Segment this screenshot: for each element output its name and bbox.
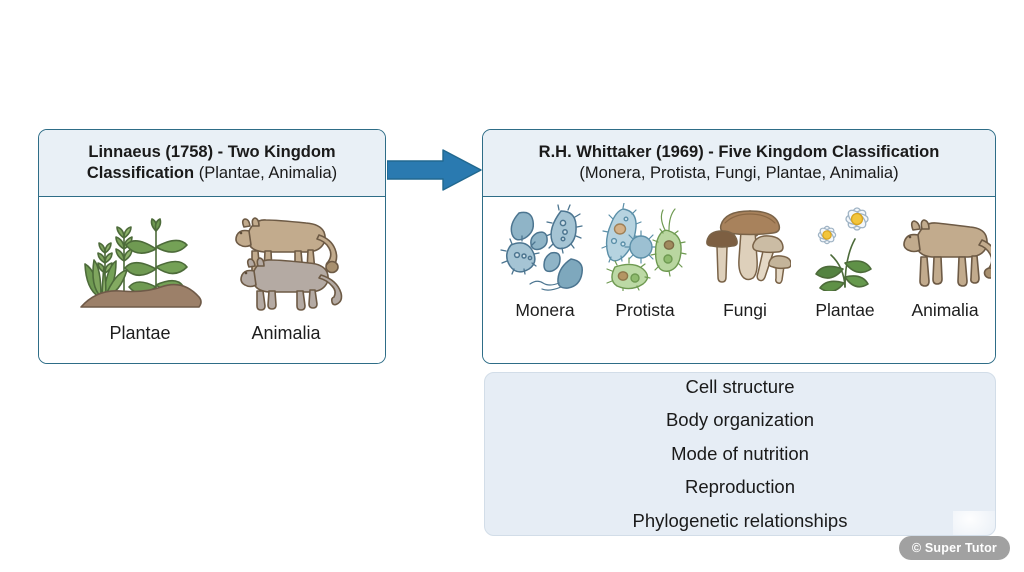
linnaeus-header-line-2: Classification (Plantae, Animalia) [87,163,337,184]
kingdom-plantae-linnaeus: Plantae [77,207,203,342]
linnaeus-kingdom-row: Plantae [39,197,385,342]
kingdom-plantae-whittaker: Plantae [797,203,893,320]
whittaker-card-body: Monera [483,197,995,363]
kingdom-label-plantae-whittaker: Plantae [815,302,874,320]
right-arrow-icon [387,148,483,192]
criteria-item: Cell structure [485,372,995,404]
kingdom-animalia-whittaker: Animalia [897,203,993,320]
kingdom-fungi: Fungi [697,203,793,320]
whittaker-card-header: R.H. Whittaker (1969) - Five Kingdom Cla… [483,130,995,197]
kingdom-label-fungi: Fungi [723,302,767,320]
kingdom-animalia-linnaeus: Animalia [225,207,347,342]
linnaeus-card-body: Plantae [39,197,385,363]
bacteria-icon [499,203,591,296]
kingdom-protista: Protista [597,203,693,320]
classification-criteria-panel: Cell structure Body organization Mode of… [484,372,996,536]
whittaker-kingdom-row: Monera [483,197,996,320]
linnaeus-header-bold-2: Classification [87,164,194,182]
two-felines-icon [225,207,347,316]
kingdom-label-plantae-linnaeus: Plantae [109,324,170,342]
criteria-item: Phylogenetic relationships [485,504,995,536]
whittaker-header-bold: R.H. Whittaker (1969) - Five Kingdom Cla… [539,143,940,161]
daisy-flowers-icon [799,203,891,296]
whittaker-five-kingdom-card: R.H. Whittaker (1969) - Five Kingdom Cla… [482,129,996,364]
linnaeus-header-bold-1: Linnaeus (1758) - Two Kingdom [88,143,335,161]
whittaker-header-normal: (Monera, Protista, Fungi, Plantae, Anima… [579,164,898,182]
mushrooms-icon [699,203,791,296]
transition-arrow [387,148,483,192]
kingdom-label-animalia-whittaker: Animalia [911,302,978,320]
linnaeus-header-normal-2: (Plantae, Animalia) [194,164,337,182]
linnaeus-header-line-1: Linnaeus (1758) - Two Kingdom [88,142,335,163]
kingdom-monera: Monera [497,203,593,320]
criteria-item: Body organization [485,404,995,438]
protozoa-icon [599,203,691,296]
whittaker-header-line-1: R.H. Whittaker (1969) - Five Kingdom Cla… [539,142,940,163]
feline-icon [899,203,991,296]
linnaeus-card-header: Linnaeus (1758) - Two Kingdom Classifica… [39,130,385,197]
plants-icon [77,207,203,316]
criteria-item: Mode of nutrition [485,437,995,471]
watermark-badge: © Super Tutor [899,536,1010,560]
kingdom-label-protista: Protista [615,302,674,320]
kingdom-label-animalia-linnaeus: Animalia [251,324,320,342]
criteria-item: Reproduction [485,471,995,505]
kingdom-label-monera: Monera [515,302,574,320]
linnaeus-two-kingdom-card: Linnaeus (1758) - Two Kingdom Classifica… [38,129,386,364]
whittaker-header-line-2: (Monera, Protista, Fungi, Plantae, Anima… [579,163,898,184]
